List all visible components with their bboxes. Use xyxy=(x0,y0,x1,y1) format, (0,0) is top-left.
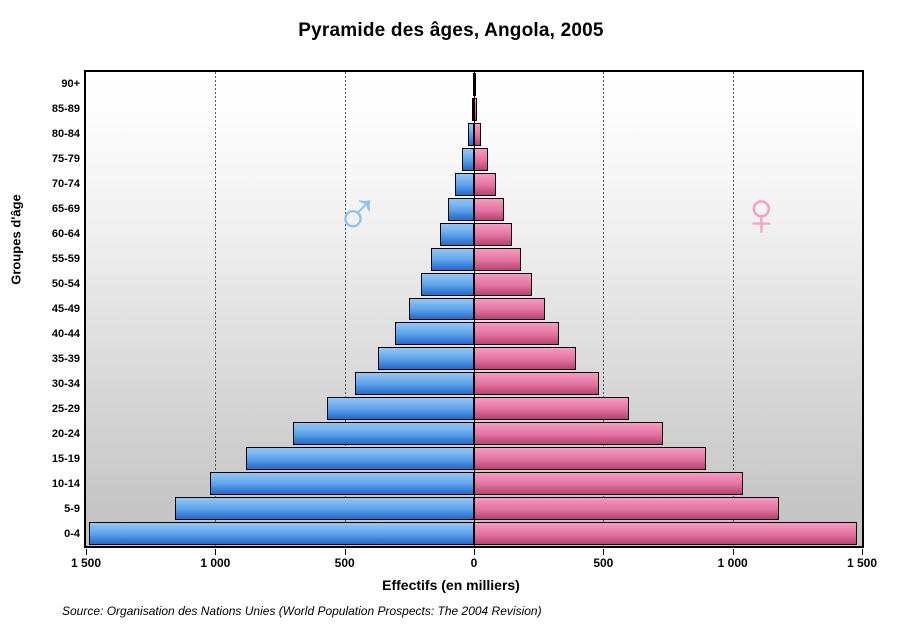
plot-inner xyxy=(86,72,862,546)
bar-row xyxy=(86,371,862,396)
bar-row xyxy=(86,72,862,97)
bar-female-55-59 xyxy=(474,248,521,271)
bar-male-10-14 xyxy=(210,472,474,495)
bar-row xyxy=(86,496,862,521)
bar-male-45-49 xyxy=(409,298,474,321)
bar-row xyxy=(86,471,862,496)
y-tick-label-15-19: 15-19 xyxy=(16,453,80,465)
y-tick-label-10-14: 10-14 xyxy=(16,478,80,490)
bar-row xyxy=(86,247,862,272)
y-tick-label-25-29: 25-29 xyxy=(16,403,80,415)
bar-row xyxy=(86,521,862,546)
y-tick-label-55-59: 55-59 xyxy=(16,253,80,265)
bar-female-80-84 xyxy=(474,123,481,146)
y-tick-label-20-24: 20-24 xyxy=(16,428,80,440)
bar-male-70-74 xyxy=(455,173,474,196)
x-axis: 1 5001 00050005001 0001 500 xyxy=(84,549,864,575)
y-axis: 0-45-910-1415-1920-2425-2930-3435-3940-4… xyxy=(12,70,80,548)
x-tick-label-1: 1 000 xyxy=(170,556,260,570)
x-tick-mark xyxy=(345,549,346,555)
bar-row xyxy=(86,446,862,471)
bar-female-60-64 xyxy=(474,223,512,246)
bar-row xyxy=(86,396,862,421)
bar-row xyxy=(86,122,862,147)
bar-male-5-9 xyxy=(175,497,474,520)
bar-female-35-39 xyxy=(474,347,576,370)
y-tick-label-85-89: 85-89 xyxy=(16,103,80,115)
x-tick-label-6: 1 500 xyxy=(817,556,902,570)
population-pyramid-chart: Pyramide des âges, Angola, 2005 Groupes … xyxy=(0,0,902,625)
x-tick-mark xyxy=(733,549,734,555)
bar-row xyxy=(86,297,862,322)
bar-row xyxy=(86,321,862,346)
bar-female-30-34 xyxy=(474,372,599,395)
y-tick-label-65-69: 65-69 xyxy=(16,203,80,215)
bar-male-0-4 xyxy=(89,522,474,545)
bar-female-75-79 xyxy=(474,148,488,171)
x-tick-mark xyxy=(86,549,87,555)
bar-row xyxy=(86,147,862,172)
bar-male-20-24 xyxy=(293,422,474,445)
bar-female-15-19 xyxy=(474,447,706,470)
bar-row xyxy=(86,346,862,371)
y-tick-label-0-4: 0-4 xyxy=(16,528,80,540)
bar-male-75-79 xyxy=(462,148,474,171)
x-axis-title: Effectifs (en milliers) xyxy=(0,577,902,593)
bar-female-40-44 xyxy=(474,322,559,345)
x-tick-label-2: 500 xyxy=(300,556,390,570)
bar-female-5-9 xyxy=(474,497,779,520)
bar-male-55-59 xyxy=(431,248,474,271)
female-gender-icon: ♀ xyxy=(738,184,785,246)
x-tick-label-5: 1 000 xyxy=(688,556,778,570)
y-tick-label-35-39: 35-39 xyxy=(16,353,80,365)
bar-row xyxy=(86,272,862,297)
bar-female-90+ xyxy=(474,73,476,96)
y-tick-label-60-64: 60-64 xyxy=(16,228,80,240)
bar-female-25-29 xyxy=(474,397,629,420)
bar-row xyxy=(86,97,862,122)
y-tick-label-40-44: 40-44 xyxy=(16,328,80,340)
y-tick-label-70-74: 70-74 xyxy=(16,178,80,190)
x-tick-mark xyxy=(215,549,216,555)
y-tick-label-5-9: 5-9 xyxy=(16,503,80,515)
y-tick-label-90+: 90+ xyxy=(16,78,80,90)
y-tick-label-45-49: 45-49 xyxy=(16,303,80,315)
bar-female-10-14 xyxy=(474,472,743,495)
bar-row xyxy=(86,421,862,446)
plot-area: ♂ ♀ xyxy=(84,70,864,548)
bar-female-85-89 xyxy=(474,98,477,121)
bar-female-0-4 xyxy=(474,522,857,545)
bar-female-50-54 xyxy=(474,273,532,296)
y-tick-label-75-79: 75-79 xyxy=(16,153,80,165)
male-gender-icon: ♂ xyxy=(334,184,381,246)
bar-male-65-69 xyxy=(448,198,474,221)
y-tick-label-30-34: 30-34 xyxy=(16,378,80,390)
bar-male-15-19 xyxy=(246,447,474,470)
bar-female-70-74 xyxy=(474,173,496,196)
bar-female-65-69 xyxy=(474,198,504,221)
bar-male-60-64 xyxy=(440,223,474,246)
x-tick-label-3: 0 xyxy=(429,556,519,570)
y-tick-label-80-84: 80-84 xyxy=(16,128,80,140)
x-tick-label-0: 1 500 xyxy=(41,556,131,570)
bar-male-35-39 xyxy=(378,347,474,370)
bar-male-40-44 xyxy=(395,322,474,345)
bar-female-20-24 xyxy=(474,422,663,445)
source-note: Source: Organisation des Nations Unies (… xyxy=(62,604,542,618)
x-tick-mark xyxy=(474,549,475,555)
y-tick-label-50-54: 50-54 xyxy=(16,278,80,290)
x-tick-label-4: 500 xyxy=(558,556,648,570)
bar-female-45-49 xyxy=(474,298,545,321)
x-tick-mark xyxy=(603,549,604,555)
bar-male-50-54 xyxy=(421,273,474,296)
chart-title: Pyramide des âges, Angola, 2005 xyxy=(0,20,902,42)
bar-male-25-29 xyxy=(327,397,474,420)
bar-male-30-34 xyxy=(355,372,474,395)
x-tick-mark xyxy=(862,549,863,555)
